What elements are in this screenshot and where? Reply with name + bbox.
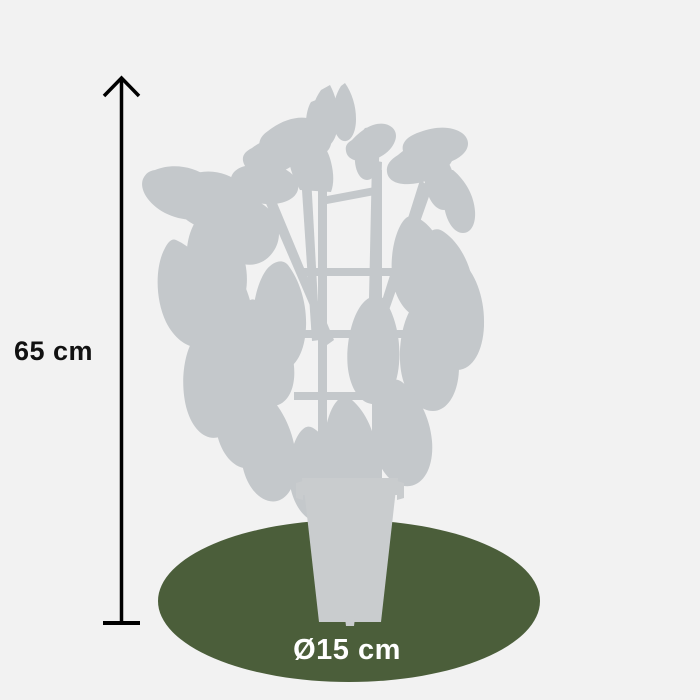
diameter-label: Ø15 cm (197, 634, 497, 667)
product-dimension-diagram: 65 cm Ø15 cm (0, 0, 700, 700)
height-label: 65 cm (14, 334, 110, 368)
